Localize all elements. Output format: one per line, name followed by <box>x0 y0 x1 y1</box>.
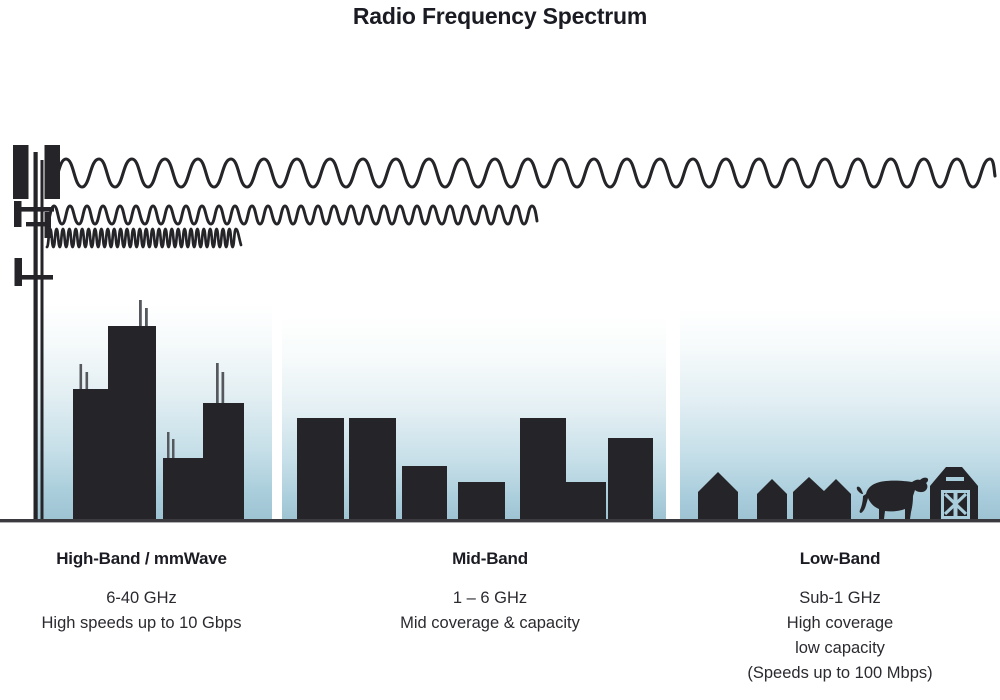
building-silhouette <box>203 403 244 519</box>
antenna-panel-large-left <box>13 145 29 199</box>
mid-band-wave <box>46 206 537 224</box>
building-silhouette <box>163 458 203 519</box>
building-spire <box>222 372 225 407</box>
band-title-mid: Mid-Band <box>345 549 635 569</box>
building-silhouette <box>402 466 447 519</box>
band-desc-high: 6-40 GHz High speeds up to 10 Gbps <box>0 586 283 636</box>
building-silhouette <box>349 418 396 519</box>
band-detail-low-3: (Speeds up to 100 Mbps) <box>690 661 990 686</box>
antenna-panel-small-left-2 <box>15 258 23 286</box>
building-silhouette <box>566 482 606 519</box>
band-label-high: High-Band / mmWave 6-40 GHz High speeds … <box>0 549 283 636</box>
building-spire <box>172 439 175 461</box>
building-spire <box>216 363 219 407</box>
band-title-low: Low-Band <box>690 549 990 569</box>
band-frequency-low: Sub-1 GHz <box>690 586 990 611</box>
building-silhouette <box>608 438 653 519</box>
building-silhouette <box>108 326 156 519</box>
band-detail-mid-1: Mid coverage & capacity <box>345 611 635 636</box>
band-title-high: High-Band / mmWave <box>0 549 283 569</box>
low-band-wave <box>50 159 995 187</box>
band-label-mid: Mid-Band 1 – 6 GHz Mid coverage & capaci… <box>345 549 635 636</box>
band-desc-mid: 1 – 6 GHz Mid coverage & capacity <box>345 586 635 636</box>
band-detail-low-2: low capacity <box>690 636 990 661</box>
building-silhouette <box>520 418 566 519</box>
band-frequency-mid: 1 – 6 GHz <box>345 586 635 611</box>
building-spire <box>167 432 170 461</box>
antenna-panel-small-left-1 <box>14 201 22 227</box>
radio-waves <box>46 159 995 247</box>
tower-mast-right <box>41 160 44 519</box>
band-detail-high-1: High speeds up to 10 Gbps <box>0 611 283 636</box>
band-desc-low: Sub-1 GHz High coverage low capacity (Sp… <box>690 586 990 686</box>
building-silhouette <box>73 389 108 519</box>
band-detail-low-1: High coverage <box>690 611 990 636</box>
ground-line <box>0 519 1000 522</box>
antenna-panel-large-right <box>45 145 61 199</box>
band-frequency-high: 6-40 GHz <box>0 586 283 611</box>
band-label-low: Low-Band Sub-1 GHz High coverage low cap… <box>690 549 990 686</box>
building-silhouette <box>458 482 505 519</box>
high-band-wave <box>47 229 241 247</box>
building-silhouette <box>297 418 344 519</box>
tower-crossarm-mid <box>26 222 51 226</box>
